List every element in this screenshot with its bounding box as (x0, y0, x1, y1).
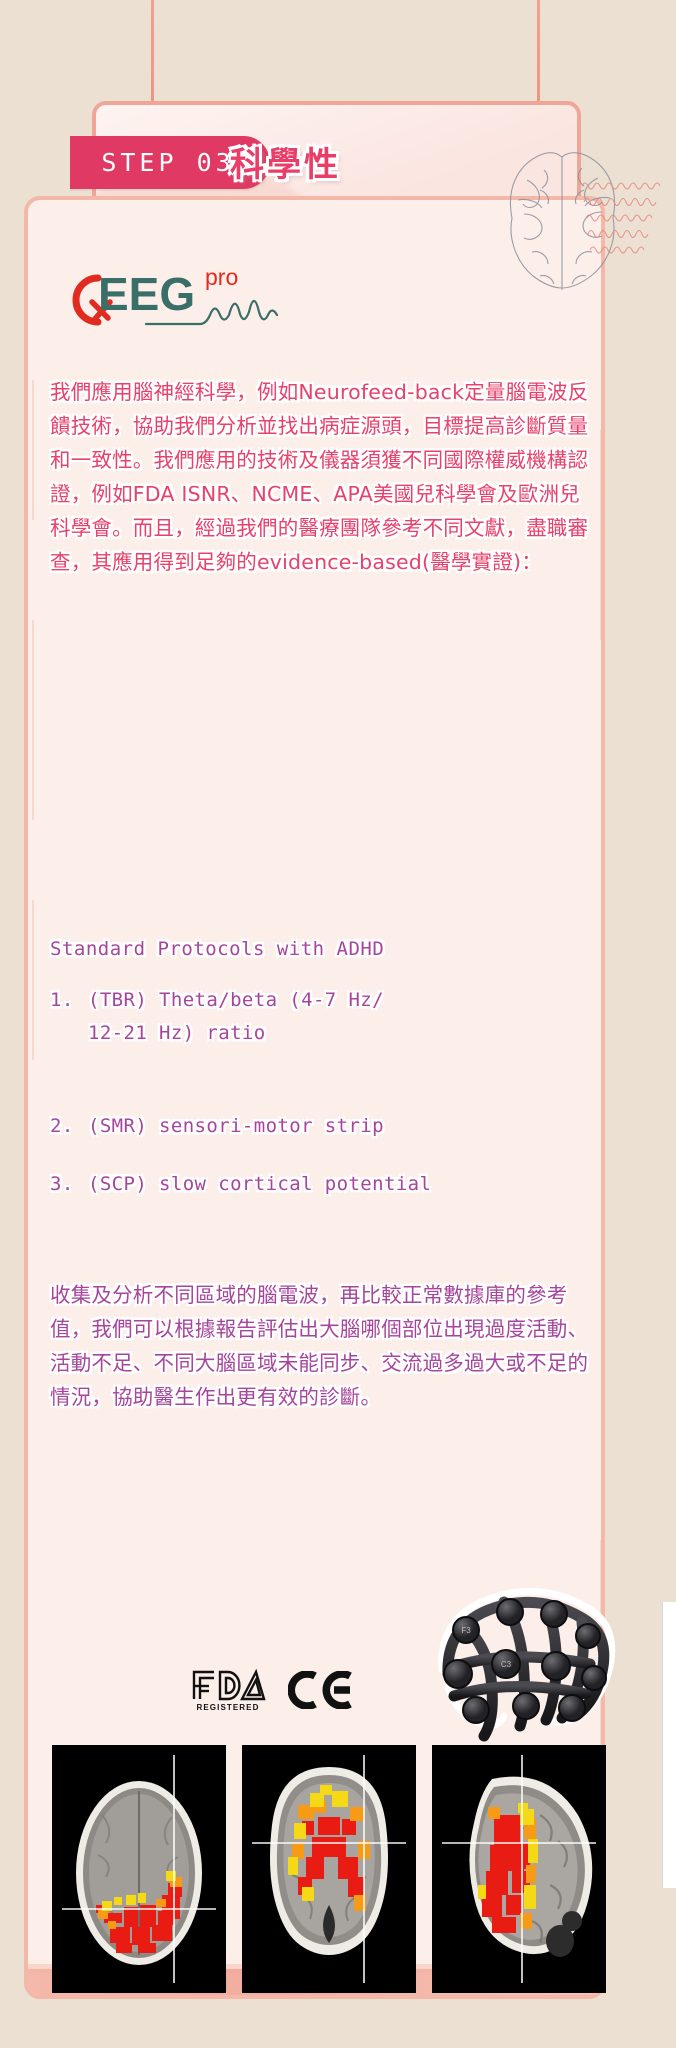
protocol-list-item: 2. (SMR) sensori-motor strip (50, 1110, 590, 1143)
brain-scan-row (52, 1745, 652, 1995)
brain-scan-sagittal (432, 1745, 606, 1993)
protocol-text: (TBR) Theta/beta (4-7 Hz/ 12-21 Hz) rati… (88, 984, 384, 1050)
step-label: STEP 03 (101, 148, 234, 177)
eegpro-logo: EEG pro (58, 258, 298, 334)
paper-streak (32, 900, 34, 1060)
section-title: 科學性 (230, 137, 341, 186)
fda-icon (190, 1668, 266, 1702)
page-right-edge (662, 1602, 676, 1888)
paper-streak (600, 430, 602, 640)
paper-streak (32, 380, 34, 520)
certification-badges: REGISTERED (190, 1668, 354, 1712)
protocol-list-item: 3. (SCP) slow cortical potential (50, 1168, 590, 1201)
svg-text:EEG: EEG (98, 268, 195, 320)
svg-text:pro: pro (205, 264, 238, 290)
protocol-list-item: 1. (TBR) Theta/beta (4-7 Hz/ 12-21 Hz) r… (50, 984, 590, 1050)
protocol-number: 1. (50, 984, 76, 1050)
protocol-number: 2. (50, 1110, 76, 1143)
eeg-cap-photo: F3 C3 (418, 1578, 626, 1746)
paper-streak (32, 620, 34, 820)
electrode-label: C3 (501, 1660, 512, 1669)
brain-scan-coronal (242, 1745, 416, 1993)
protocol-number: 3. (50, 1168, 76, 1201)
protocol-text: (SCP) slow cortical potential (88, 1168, 431, 1201)
fda-registered-badge: REGISTERED (190, 1668, 266, 1712)
electrode-label: F3 (461, 1626, 471, 1635)
ce-mark-icon (288, 1671, 354, 1709)
protocols-heading: Standard Protocols with ADHD (50, 932, 570, 966)
hanging-string-left (151, 0, 154, 108)
fda-subtext: REGISTERED (196, 1703, 259, 1712)
brain-scan-axial (52, 1745, 226, 1993)
hanging-string-right (537, 0, 540, 104)
intro-paragraph: 我們應用腦神經科學，例如Neurofeed-back定量腦電波反饋技術，協助我們… (50, 375, 590, 579)
protocol-text: (SMR) sensori-motor strip (88, 1110, 384, 1143)
outro-paragraph: 收集及分析不同區域的腦電波，再比較正常數據庫的參考值，我們可以根據報告評估出大腦… (50, 1278, 590, 1414)
